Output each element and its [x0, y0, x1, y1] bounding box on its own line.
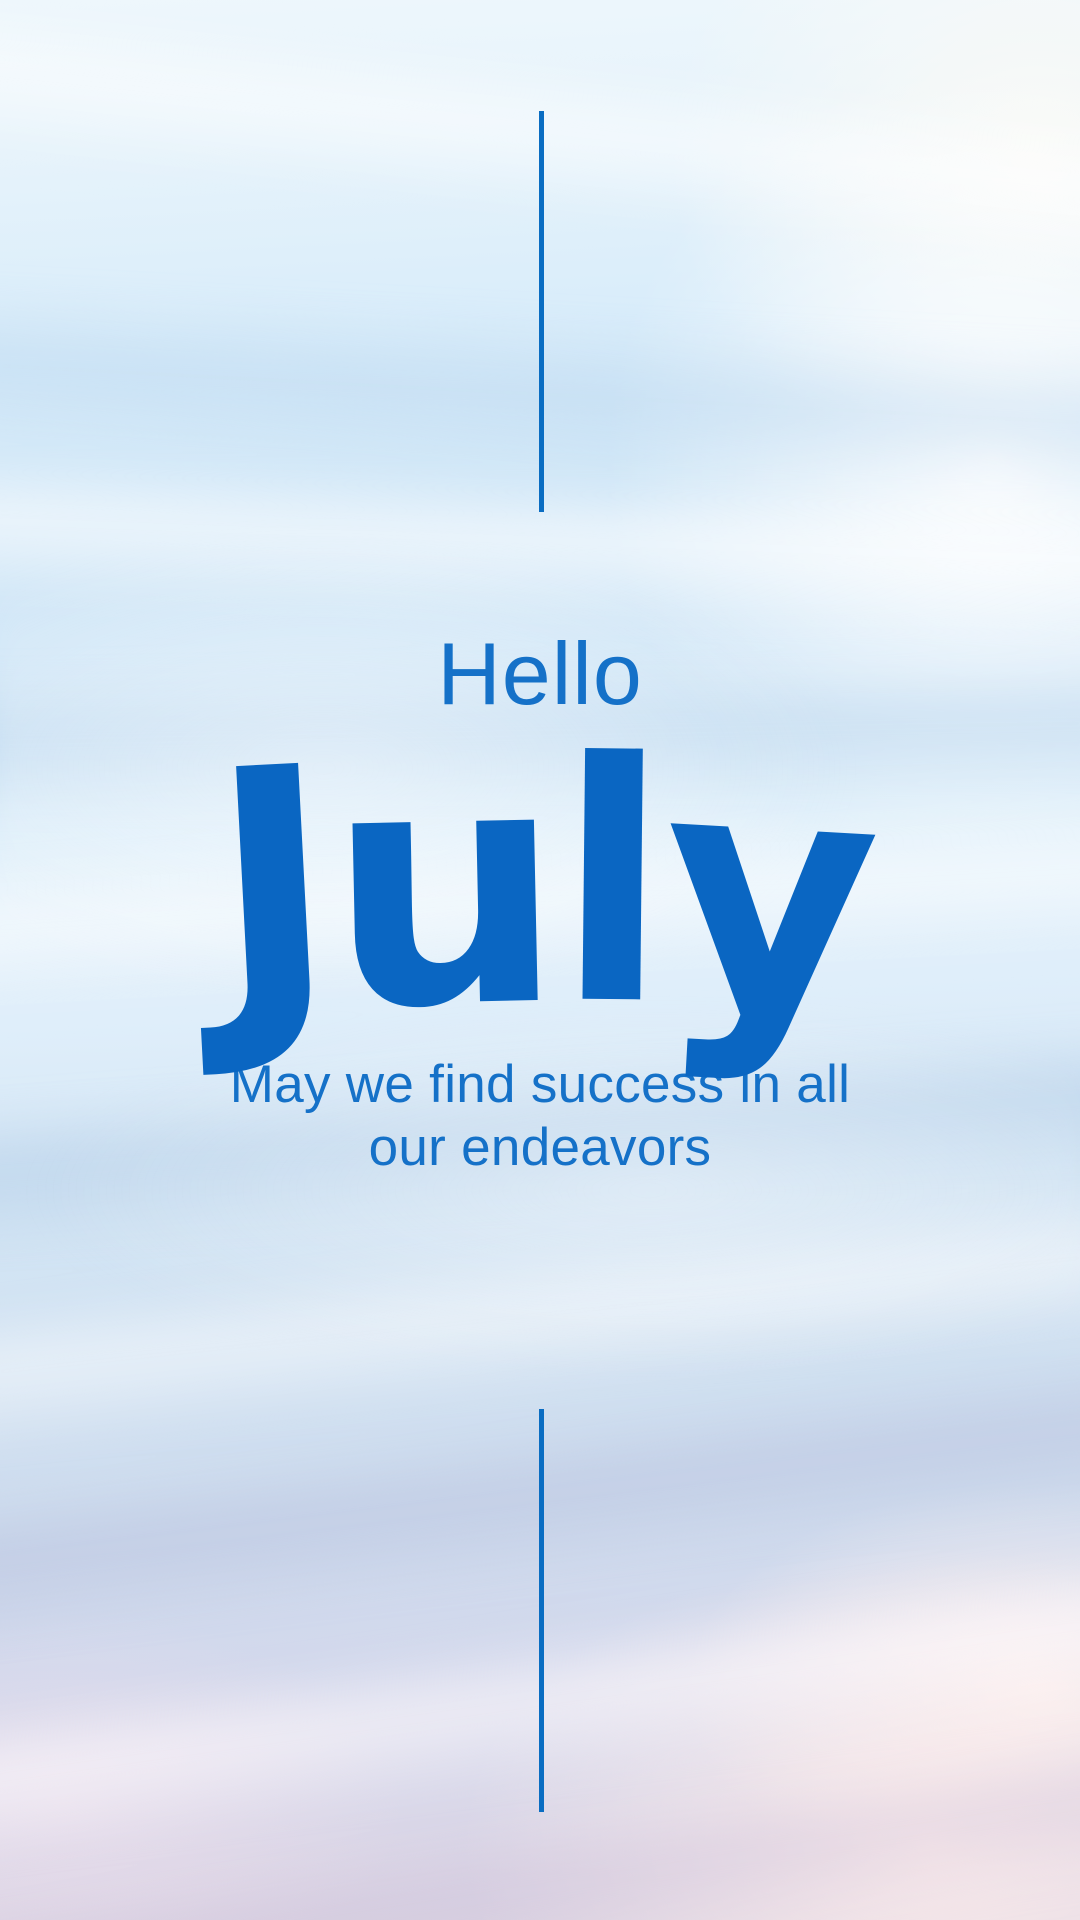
tagline-line-2: our endeavors — [0, 1117, 1080, 1180]
month-letter: y — [654, 739, 876, 1054]
month-letter: u — [325, 735, 556, 1043]
month-title: July — [0, 736, 1080, 1026]
vertical-rule-top-icon — [539, 111, 544, 512]
vertical-rule-bottom-icon — [539, 1409, 544, 1812]
poster-content: Hello July May we find success in all ou… — [0, 630, 1080, 1179]
poster-canvas: Hello July May we find success in all ou… — [0, 0, 1080, 1920]
month-letter: J — [205, 737, 334, 1046]
month-letter: l — [554, 733, 660, 1038]
